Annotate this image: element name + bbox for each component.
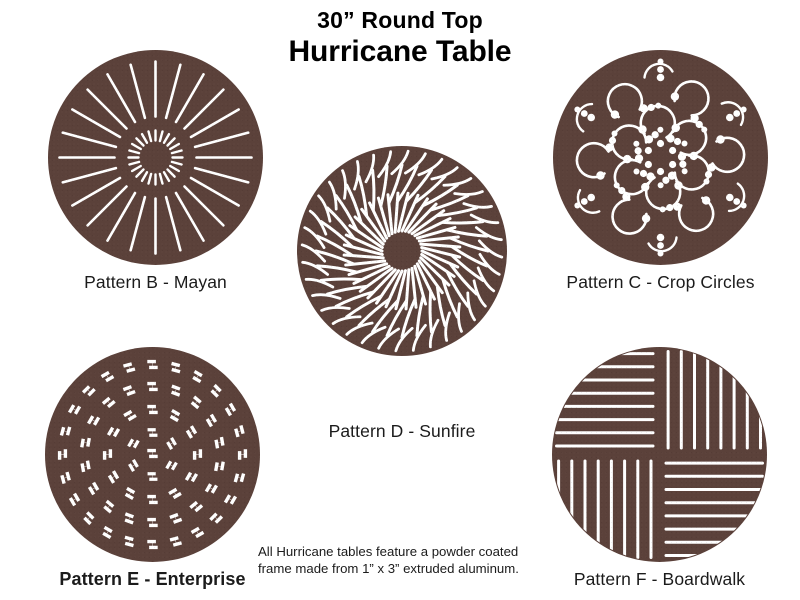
pattern-tile-c[interactable]: Pattern C - Crop Circles	[553, 50, 768, 265]
pattern-disc-crop-circles[interactable]	[553, 50, 768, 265]
pattern-disc-boardwalk[interactable]	[552, 347, 767, 562]
pattern-tile-d[interactable]: Pattern D - Sunfire	[297, 146, 507, 356]
title-subtitle-line: 30” Round Top	[0, 6, 800, 34]
pattern-disc-mayan[interactable]	[48, 50, 263, 265]
pattern-caption-e: Pattern E - Enterprise	[45, 569, 260, 590]
footer-note: All Hurricane tables feature a powder co…	[258, 544, 558, 577]
footer-note-line-2: frame made from 1” x 3” extruded aluminu…	[258, 561, 558, 578]
footer-note-line-1: All Hurricane tables feature a powder co…	[258, 544, 558, 561]
pattern-disc-enterprise[interactable]	[45, 347, 260, 562]
pattern-tile-e[interactable]: Pattern E - Enterprise	[45, 347, 260, 562]
product-sheet: 30” Round Top Hurricane Table Pattern B …	[0, 0, 800, 600]
pattern-caption-b: Pattern B - Mayan	[48, 272, 263, 293]
pattern-disc-sunfire[interactable]	[297, 146, 507, 356]
pattern-caption-f: Pattern F - Boardwalk	[552, 569, 767, 590]
pattern-tile-b[interactable]: Pattern B - Mayan	[48, 50, 263, 265]
pattern-caption-c: Pattern C - Crop Circles	[553, 272, 768, 293]
pattern-caption-d: Pattern D - Sunfire	[297, 421, 507, 442]
pattern-tile-f[interactable]: Pattern F - Boardwalk	[552, 347, 767, 562]
